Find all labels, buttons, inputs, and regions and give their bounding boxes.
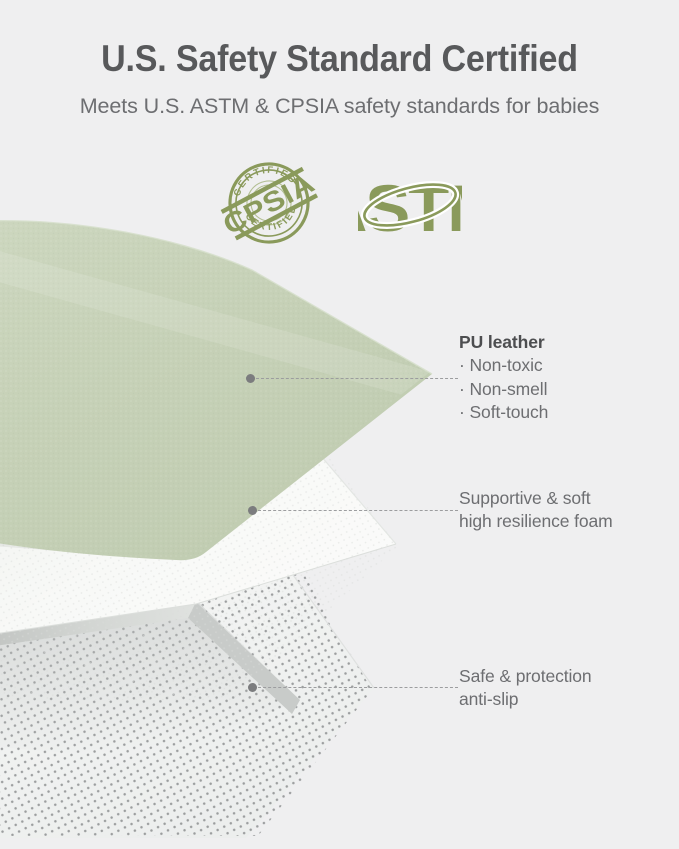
leader-dot [248,506,257,515]
callout-anti-slip: Safe & protection anti-slip [459,665,592,712]
callout-foam: Supportive & soft high resilience foam [459,487,613,534]
product-infographic: U.S. Safety Standard Certified Meets U.S… [0,0,679,849]
pu-leather-layer [0,200,460,580]
callout-line: Safe & protection [459,665,592,688]
header: U.S. Safety Standard Certified Meets U.S… [0,0,679,119]
leader-line-foam [248,505,458,516]
layer-stack-illustration [0,0,679,849]
leader-dash [258,510,458,511]
astm-badge-icon: ASTM [358,153,462,253]
page-subtitle: Meets U.S. ASTM & CPSIA safety standards… [0,80,679,119]
leader-dot [248,683,257,692]
callout-line: · Non-smell [459,378,548,401]
leader-line-pu-leather [246,373,458,384]
callout-line: high resilience foam [459,510,613,533]
callout-title: PU leather [459,331,548,354]
callout-line: anti-slip [459,688,592,711]
page-title: U.S. Safety Standard Certified [27,0,652,80]
callout-line: Supportive & soft [459,487,613,510]
leader-dot [246,374,255,383]
callout-pu-leather: PU leather · Non-toxic · Non-smell · Sof… [459,331,548,424]
callout-line: · Soft-touch [459,401,548,424]
certification-badges: CERTIFIED CERTIFIED CPSIA ASTM [0,152,679,254]
leader-line-anti-slip [248,682,458,693]
cpsia-badge-icon: CERTIFIED CERTIFIED CPSIA [218,152,320,254]
leader-dash [258,687,458,688]
leader-dash [256,378,458,379]
callout-line: · Non-toxic [459,354,548,377]
